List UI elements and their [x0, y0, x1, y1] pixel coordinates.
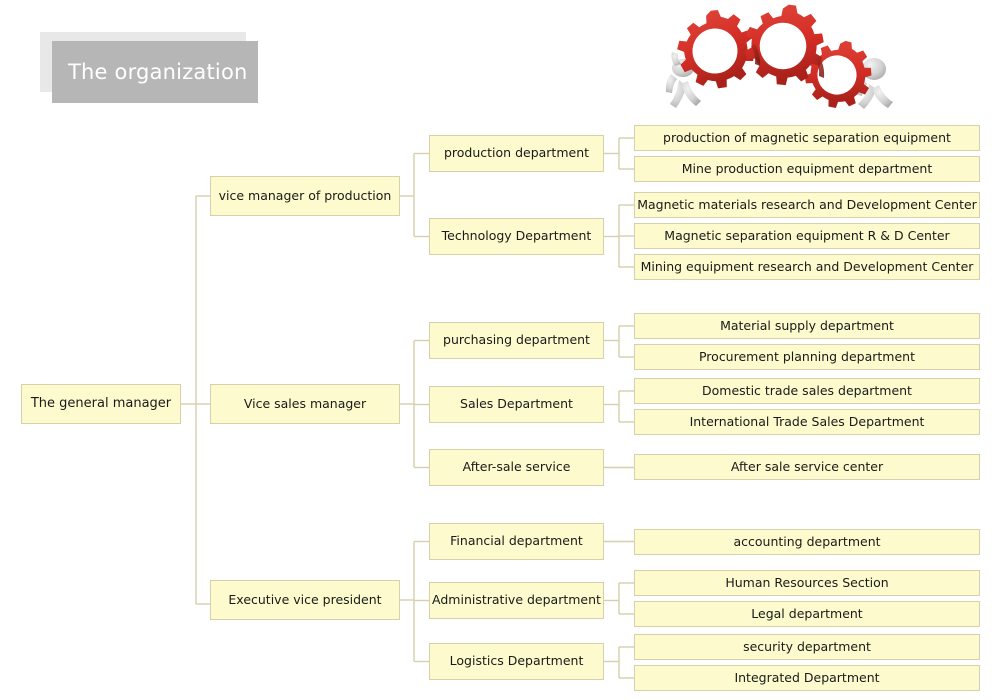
- org-node-legal[interactable]: Legal department: [634, 601, 980, 627]
- org-node-mining-equip-rd[interactable]: Mining equipment research and Developmen…: [634, 254, 980, 280]
- org-node-material-supply[interactable]: Material supply department: [634, 313, 980, 339]
- org-node-domestic-trade[interactable]: Domestic trade sales department: [634, 378, 980, 404]
- org-node-logistics[interactable]: Logistics Department: [429, 643, 604, 680]
- org-node-purchasing[interactable]: purchasing department: [429, 322, 604, 359]
- org-node-international-trade[interactable]: International Trade Sales Department: [634, 409, 980, 435]
- org-node-mag-materials-rd[interactable]: Magnetic materials research and Developm…: [634, 192, 980, 218]
- org-node-security[interactable]: security department: [634, 634, 980, 660]
- org-chart-canvas: The organization: [0, 0, 1000, 700]
- org-node-evp[interactable]: Executive vice president: [210, 580, 400, 620]
- org-node-mine-prod-equip[interactable]: Mine production equipment department: [634, 156, 980, 182]
- org-node-sales-dept[interactable]: Sales Department: [429, 386, 604, 423]
- org-node-hr-section[interactable]: Human Resources Section: [634, 570, 980, 596]
- org-node-administrative[interactable]: Administrative department: [429, 582, 604, 619]
- org-node-root[interactable]: The general manager: [21, 384, 181, 424]
- org-node-prod-magsep[interactable]: production of magnetic separation equipm…: [634, 125, 980, 151]
- org-node-mag-sep-rd[interactable]: Magnetic separation equipment R & D Cent…: [634, 223, 980, 249]
- org-node-vp-sales[interactable]: Vice sales manager: [210, 384, 400, 424]
- org-node-tech-dept[interactable]: Technology Department: [429, 218, 604, 255]
- org-node-after-sale-center[interactable]: After sale service center: [634, 454, 980, 480]
- org-node-prod-dept[interactable]: production department: [429, 135, 604, 172]
- org-node-financial[interactable]: Financial department: [429, 523, 604, 560]
- org-node-after-sale[interactable]: After-sale service: [429, 449, 604, 486]
- org-node-procurement-planning[interactable]: Procurement planning department: [634, 344, 980, 370]
- org-node-integrated[interactable]: Integrated Department: [634, 665, 980, 691]
- org-node-accounting[interactable]: accounting department: [634, 529, 980, 555]
- org-node-vp-production[interactable]: vice manager of production: [210, 176, 400, 216]
